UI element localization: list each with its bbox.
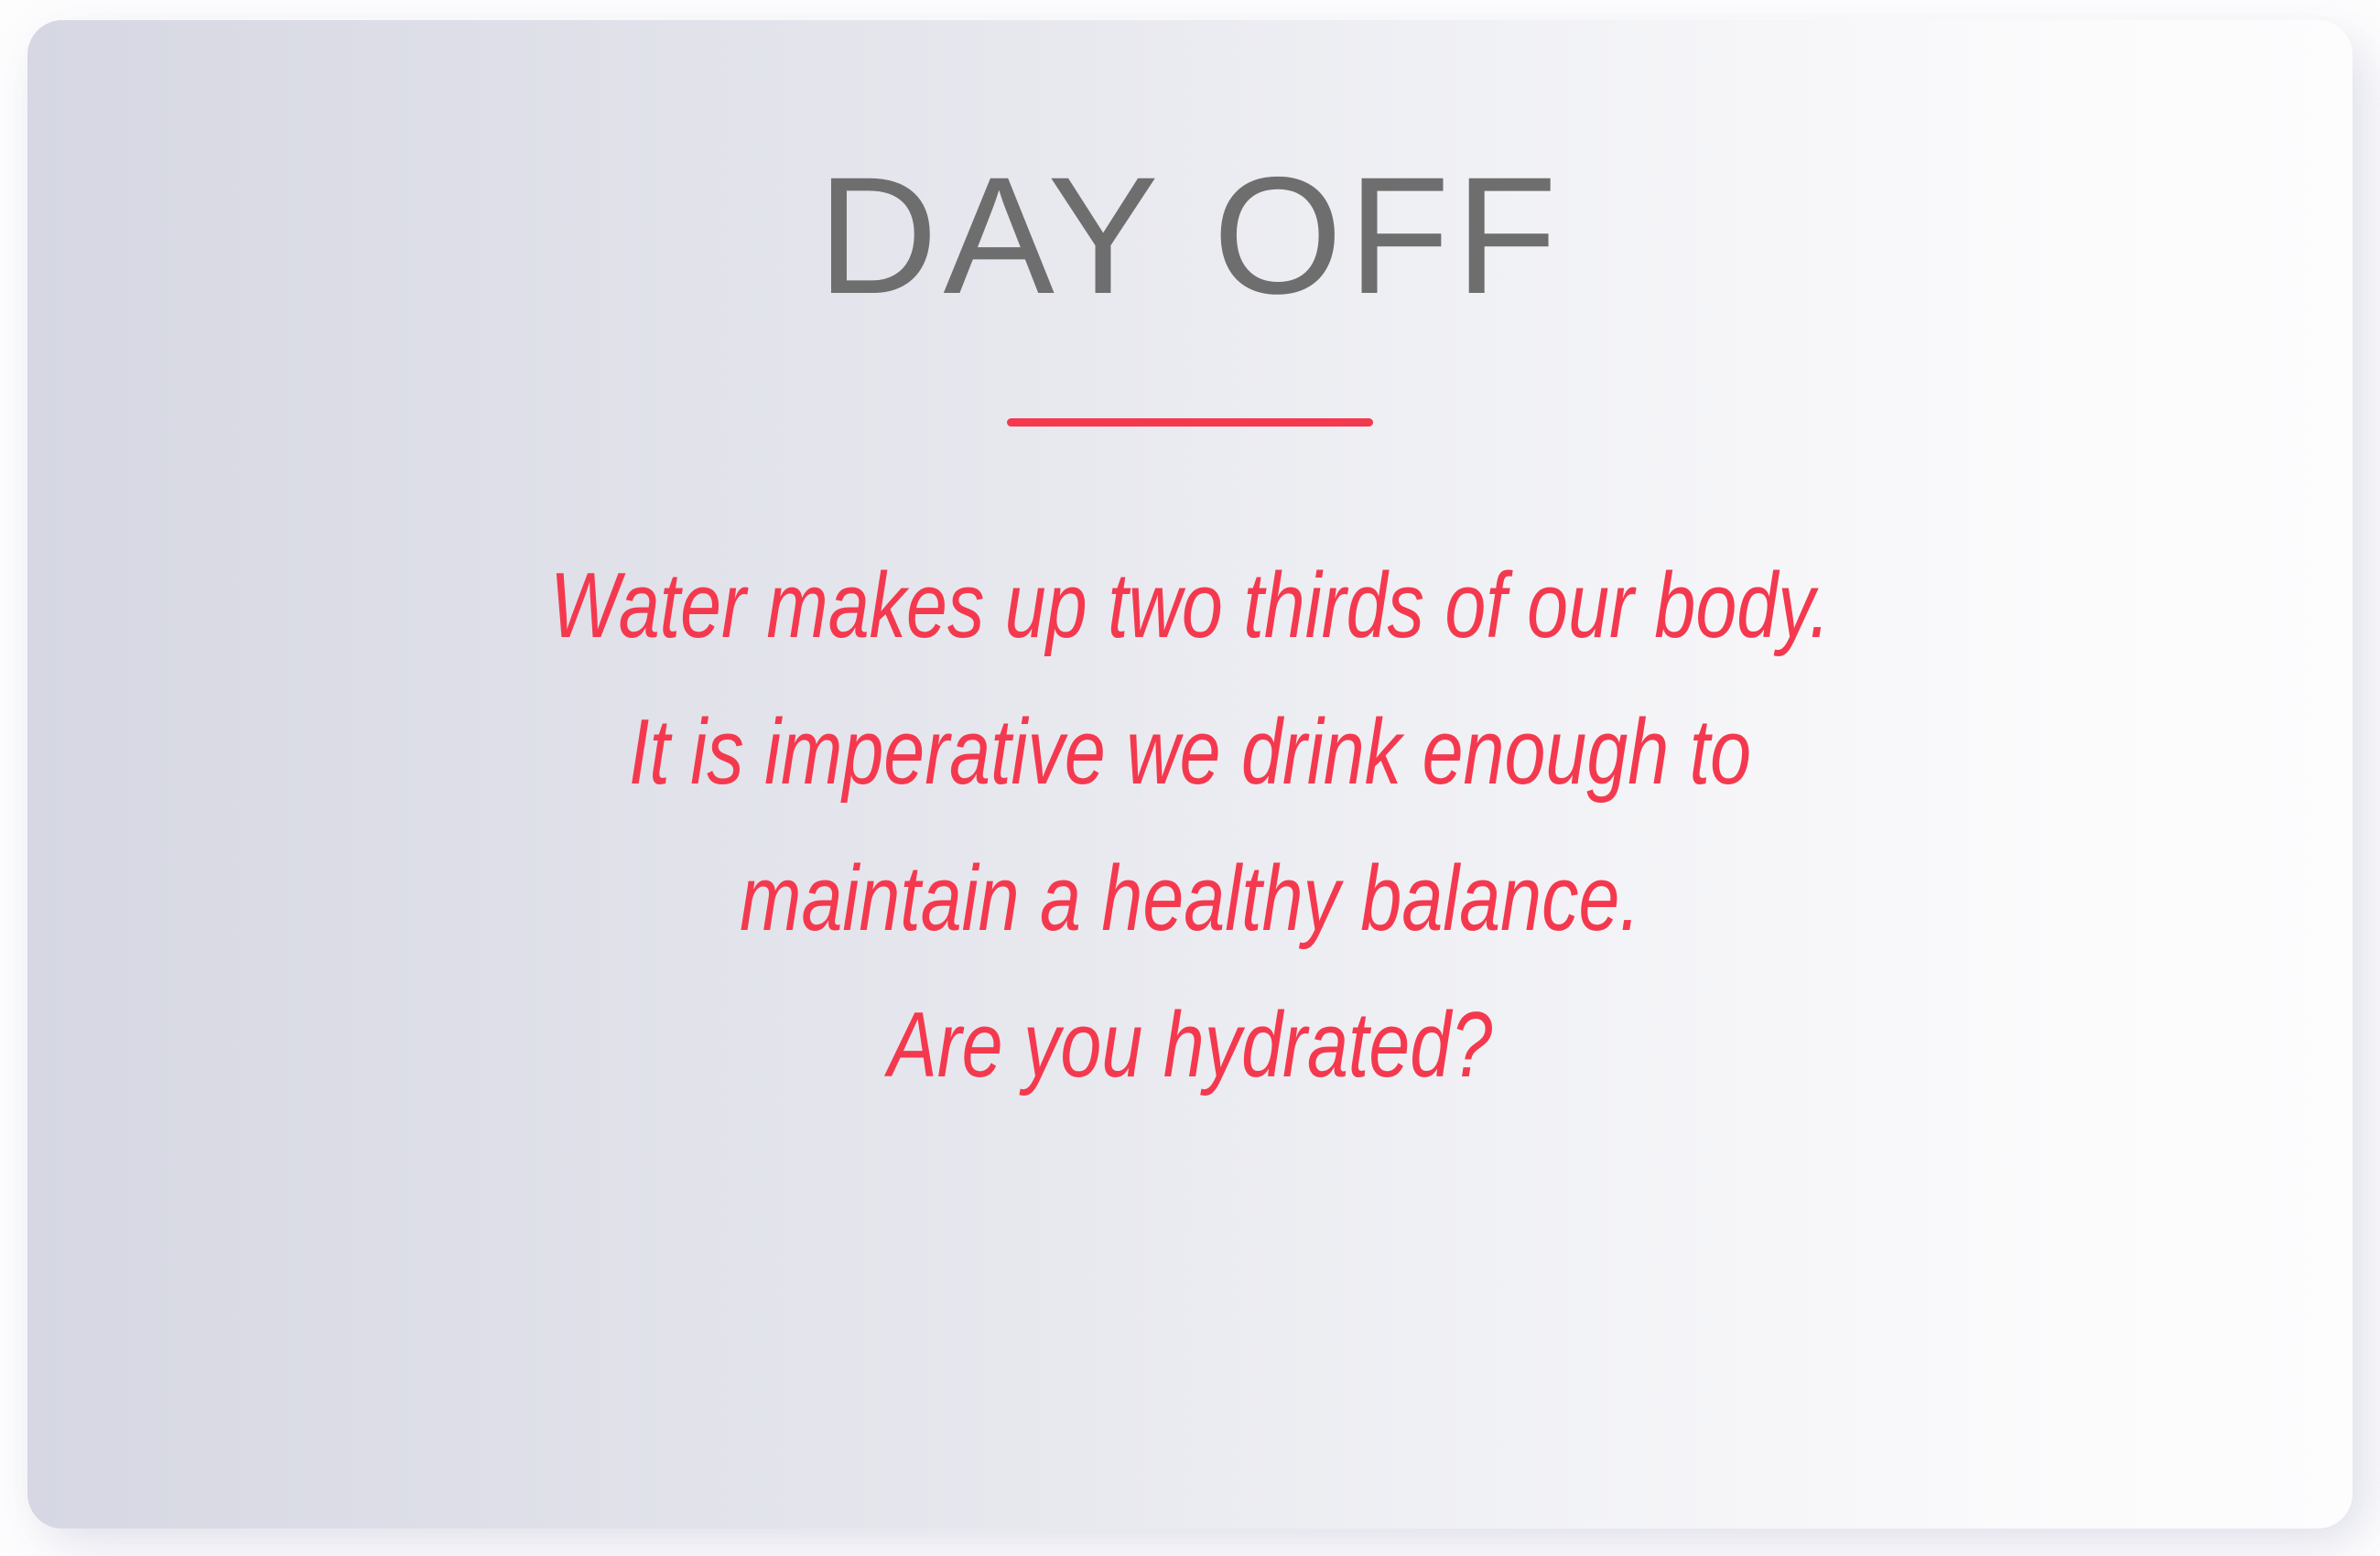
quote-line: Water makes up two thirds of our body. [384,533,1996,679]
page-title: DAY OFF [817,148,1563,323]
card-content: DAY OFF Water makes up two thirds of our… [27,20,2353,1529]
page-background: DAY OFF Water makes up two thirds of our… [0,0,2380,1556]
day-off-card: DAY OFF Water makes up two thirds of our… [27,20,2353,1529]
quote-text: Water makes up two thirds of our body. I… [384,533,1996,1118]
quote-line: maintain a healthy balance. [384,826,1996,972]
title-divider [1007,418,1373,427]
quote-line: Are you hydrated? [384,972,1996,1118]
quote-line: It is imperative we drink enough to [384,679,1996,826]
